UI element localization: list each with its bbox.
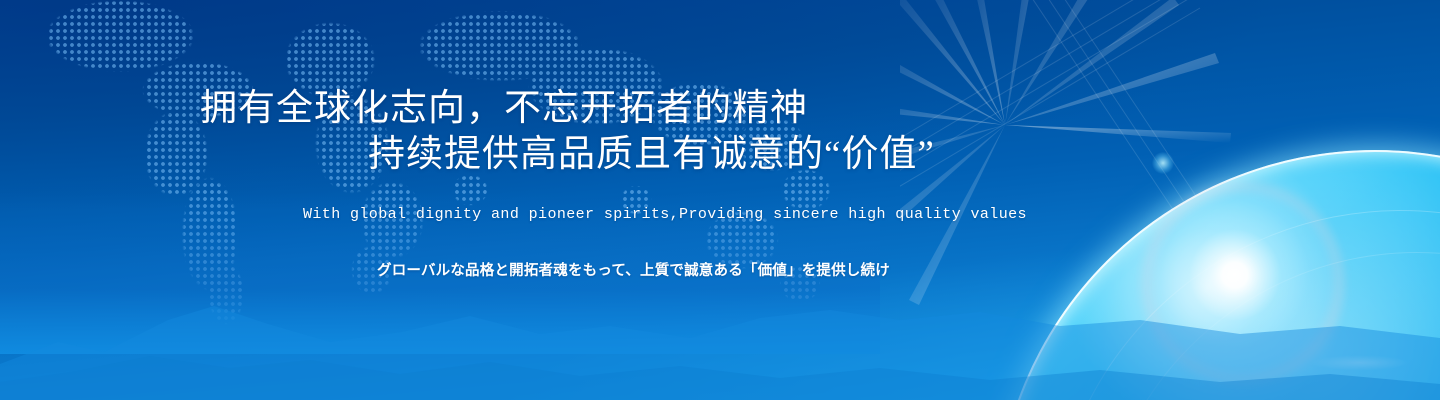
subtitle-japanese: グローバルな品格と開拓者魂をもって、上質で誠意ある「価値」を提供し続け (377, 259, 890, 280)
copy-block: 拥有全球化志向，不忘开拓者的精神 持续提供高品质且有诚意的“价值” With g… (0, 0, 1440, 400)
hero-banner: 拥有全球化志向，不忘开拓者的精神 持续提供高品质且有诚意的“价值” With g… (0, 0, 1440, 400)
page-title: 拥有全球化志向，不忘开拓者的精神 持续提供高品质且有诚意的“价值” (200, 86, 935, 178)
headline-line-2: 持续提供高品质且有诚意的“价值” (200, 132, 935, 178)
headline-line-1: 拥有全球化志向，不忘开拓者的精神 (200, 88, 808, 129)
subtitle-english: With global dignity and pioneer spirits,… (303, 206, 1027, 223)
